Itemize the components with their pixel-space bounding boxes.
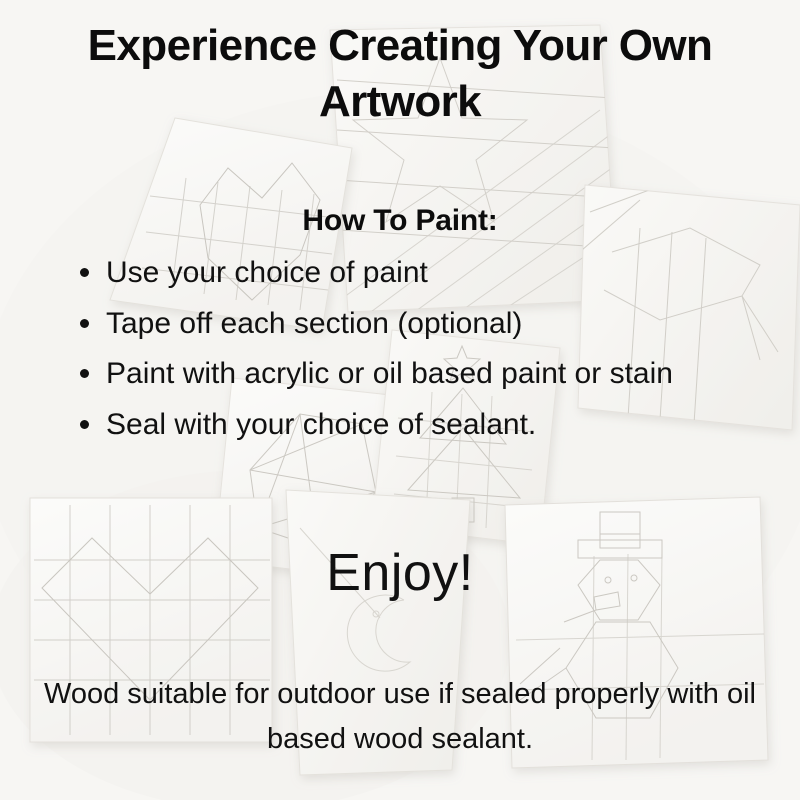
footnote-text: Wood suitable for outdoor use if sealed … xyxy=(40,672,760,762)
list-item: Paint with acrylic or oil based paint or… xyxy=(72,351,762,397)
bullet-icon xyxy=(80,319,89,328)
list-item-label: Paint with acrylic or oil based paint or… xyxy=(106,357,673,390)
list-item-label: Tape off each section (optional) xyxy=(106,307,522,340)
poster: Experience Creating Your Own Artwork How… xyxy=(0,0,800,800)
list-item-label: Seal with your choice of sealant. xyxy=(106,408,536,441)
closing-text: Enjoy! xyxy=(0,543,800,603)
bullet-icon xyxy=(80,268,89,277)
list-item-label: Use your choice of paint xyxy=(106,256,428,289)
instructions-list: Use your choice of paint Tape off each s… xyxy=(72,250,762,452)
text-overlay: Experience Creating Your Own Artwork How… xyxy=(0,0,800,800)
bullet-icon xyxy=(80,420,89,429)
page-title: Experience Creating Your Own Artwork xyxy=(40,18,760,131)
bullet-icon xyxy=(80,369,89,378)
list-item: Seal with your choice of sealant. xyxy=(72,402,762,448)
list-item: Tape off each section (optional) xyxy=(72,301,762,347)
list-item: Use your choice of paint xyxy=(72,250,762,296)
how-to-paint-heading: How To Paint: xyxy=(0,204,800,238)
